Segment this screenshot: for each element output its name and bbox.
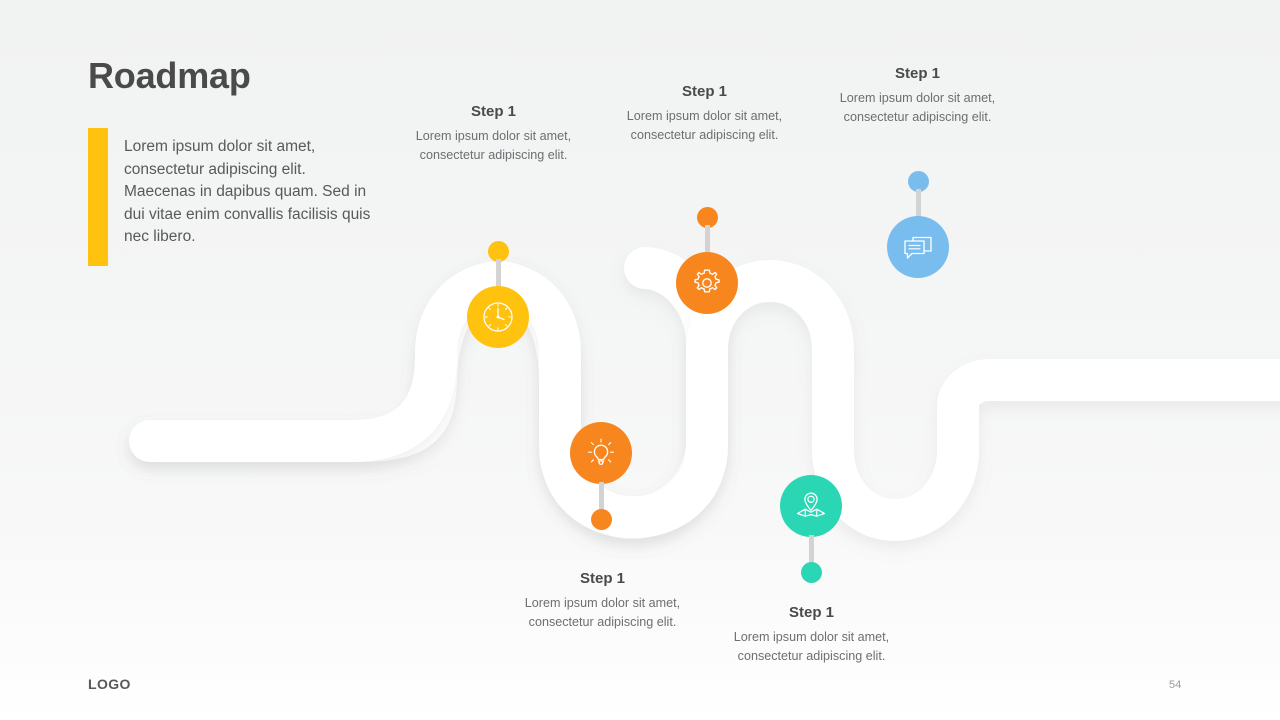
milestone-marker-gear[interactable]: [677, 207, 737, 315]
milestone-icon-circle[interactable]: [467, 286, 529, 348]
milestone-icon-circle[interactable]: [570, 422, 632, 484]
step-title: Step 1: [724, 604, 899, 621]
page-number: 54: [1169, 679, 1181, 691]
chat-bubbles-icon: [901, 230, 935, 264]
step-block-bulb: Step 1 Lorem ipsum dolor sit amet, conse…: [515, 570, 690, 631]
milestone-stem: [809, 535, 814, 565]
step-description: Lorem ipsum dolor sit amet, consectetur …: [830, 89, 1005, 126]
step-block-chat: Step 1 Lorem ipsum dolor sit amet, conse…: [830, 65, 1005, 126]
milestone-icon-circle[interactable]: [887, 216, 949, 278]
milestone-marker-bulb[interactable]: [571, 422, 631, 530]
step-title: Step 1: [830, 65, 1005, 82]
milestone-marker-map[interactable]: [781, 475, 841, 583]
lightbulb-icon: [584, 436, 618, 470]
step-description: Lorem ipsum dolor sit amet, consectetur …: [406, 127, 581, 164]
step-block-gear: Step 1 Lorem ipsum dolor sit amet, conse…: [617, 83, 792, 144]
page-title: Roadmap: [88, 55, 251, 97]
step-block-clock: Step 1 Lorem ipsum dolor sit amet, conse…: [406, 103, 581, 164]
step-title: Step 1: [617, 83, 792, 100]
milestone-stem: [496, 259, 501, 289]
milestone-icon-circle[interactable]: [780, 475, 842, 537]
accent-bar: [88, 128, 108, 266]
step-title: Step 1: [406, 103, 581, 120]
map-location-icon: [794, 489, 828, 523]
gear-icon: [690, 266, 724, 300]
slide-canvas: Roadmap Lorem ipsum dolor sit amet, cons…: [0, 0, 1280, 720]
clock-icon: [481, 300, 515, 334]
milestone-marker-chat[interactable]: [888, 171, 948, 279]
intro-block: Lorem ipsum dolor sit amet, consectetur …: [88, 128, 388, 266]
step-description: Lorem ipsum dolor sit amet, consectetur …: [515, 594, 690, 631]
intro-text: Lorem ipsum dolor sit amet, consectetur …: [124, 136, 374, 249]
milestone-stem: [599, 482, 604, 512]
step-description: Lorem ipsum dolor sit amet, consectetur …: [724, 628, 899, 665]
step-description: Lorem ipsum dolor sit amet, consectetur …: [617, 107, 792, 144]
milestone-icon-circle[interactable]: [676, 252, 738, 314]
footer-logo: LOGO: [88, 676, 131, 692]
step-block-map: Step 1 Lorem ipsum dolor sit amet, conse…: [724, 604, 899, 665]
milestone-marker-clock[interactable]: [468, 241, 528, 349]
step-title: Step 1: [515, 570, 690, 587]
milestone-dot: [801, 562, 822, 583]
milestone-dot: [591, 509, 612, 530]
milestone-stem: [705, 225, 710, 255]
milestone-stem: [916, 189, 921, 219]
